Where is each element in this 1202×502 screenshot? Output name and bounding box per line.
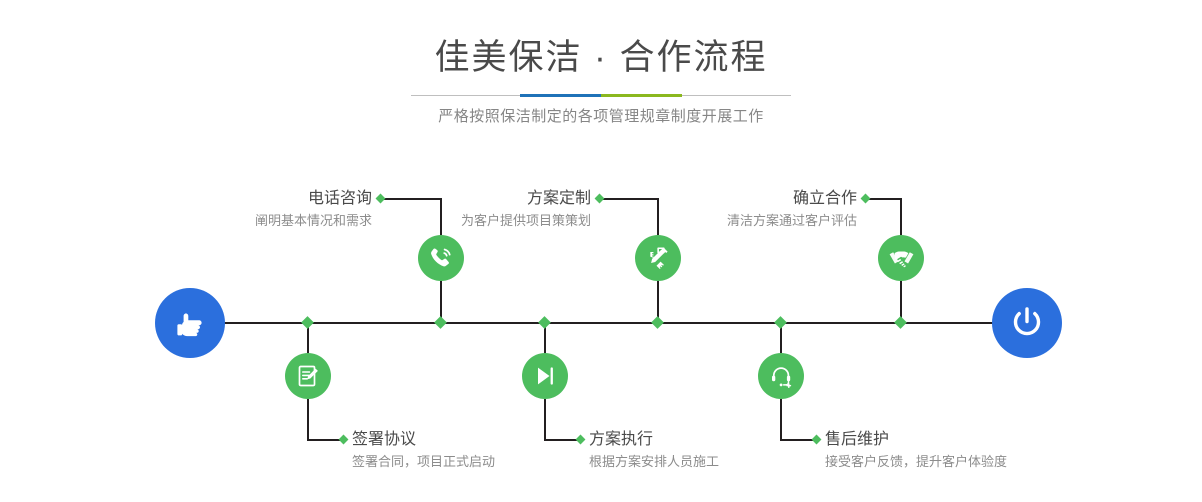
headset-support-icon xyxy=(769,364,794,389)
handshake-icon xyxy=(888,245,915,272)
step-node-phone-consult[interactable] xyxy=(418,235,464,281)
step-desc-after-sales: 接受客户反馈，提升客户体验度 xyxy=(825,451,1007,473)
step-label-establish-cooperation: 确立合作 清洁方案通过客户评估 xyxy=(727,188,857,232)
axis-marker-establish-cooperation xyxy=(894,316,907,329)
step-desc-establish-cooperation: 清洁方案通过客户评估 xyxy=(727,210,857,232)
step-desc-plan-custom: 为客户提供项目策策划 xyxy=(461,210,591,232)
step-title-after-sales: 售后维护 xyxy=(825,429,1007,451)
label-marker-establish-cooperation xyxy=(861,194,871,204)
connector-stem-up-establish-cooperation xyxy=(900,198,902,235)
connector-stem-down-after-sales xyxy=(780,399,782,440)
step-desc-sign-agreement: 签署合同，项目正式启动 xyxy=(352,451,495,473)
label-marker-after-sales xyxy=(812,435,822,445)
axis-marker-plan-custom xyxy=(651,316,664,329)
step-desc-phone-consult: 阐明基本情况和需求 xyxy=(255,210,372,232)
flow-timeline-axis xyxy=(160,322,1042,324)
connector-arm-plan-custom xyxy=(600,198,659,200)
page-subtitle: 严格按照保洁制定的各项管理规章制度开展工作 xyxy=(0,105,1202,129)
connector-stem-down-sign-agreement xyxy=(307,399,309,440)
connector-stem-down-plan-execution xyxy=(544,399,546,440)
step-label-plan-execution: 方案执行 根据方案安排人员施工 xyxy=(589,429,719,473)
pencil-ruler-icon xyxy=(645,245,671,271)
process-flow-diagram: 电话咨询 阐明基本情况和需求 方案定制 为客户提供项目策策划 xyxy=(0,150,1202,502)
step-label-plan-custom: 方案定制 为客户提供项目策策划 xyxy=(461,188,591,232)
step-title-phone-consult: 电话咨询 xyxy=(255,188,372,210)
label-marker-plan-execution xyxy=(576,435,586,445)
connector-arm-phone-consult xyxy=(381,198,442,200)
divider-segment-green xyxy=(601,94,682,97)
step-node-plan-execution[interactable] xyxy=(522,353,568,399)
axis-marker-sign-agreement xyxy=(301,316,314,329)
connector-stem-up-phone-consult xyxy=(440,198,442,235)
label-marker-phone-consult xyxy=(376,194,386,204)
step-title-sign-agreement: 签署协议 xyxy=(352,429,495,451)
axis-marker-plan-execution xyxy=(538,316,551,329)
step-node-after-sales[interactable] xyxy=(758,353,804,399)
axis-marker-after-sales xyxy=(774,316,787,329)
step-title-plan-execution: 方案执行 xyxy=(589,429,719,451)
step-desc-plan-execution: 根据方案安排人员施工 xyxy=(589,451,719,473)
page-header: 佳美保洁 · 合作流程 严格按照保洁制定的各项管理规章制度开展工作 xyxy=(0,0,1202,150)
step-label-sign-agreement: 签署协议 签署合同，项目正式启动 xyxy=(352,429,495,473)
pointing-hand-icon xyxy=(170,303,210,343)
title-divider xyxy=(411,94,791,97)
divider-segment-gray-left xyxy=(411,95,520,96)
power-icon xyxy=(1006,302,1048,344)
label-marker-plan-custom xyxy=(595,194,605,204)
divider-segment-blue xyxy=(520,94,601,97)
step-label-after-sales: 售后维护 接受客户反馈，提升客户体验度 xyxy=(825,429,1007,473)
document-sign-icon xyxy=(296,364,321,389)
step-title-plan-custom: 方案定制 xyxy=(461,188,591,210)
step-node-plan-custom[interactable] xyxy=(635,235,681,281)
step-label-phone-consult: 电话咨询 阐明基本情况和需求 xyxy=(255,188,372,232)
play-execute-icon xyxy=(533,364,557,388)
divider-segment-gray-right xyxy=(682,95,791,96)
axis-marker-phone-consult xyxy=(434,316,447,329)
label-marker-sign-agreement xyxy=(339,435,349,445)
step-title-establish-cooperation: 确立合作 xyxy=(727,188,857,210)
connector-arm-establish-cooperation xyxy=(866,198,902,200)
phone-ring-icon xyxy=(428,245,454,271)
step-node-sign-agreement[interactable] xyxy=(285,353,331,399)
page-title: 佳美保洁 · 合作流程 xyxy=(0,35,1202,81)
flow-start-node[interactable] xyxy=(155,288,225,358)
flow-end-node[interactable] xyxy=(992,288,1062,358)
step-node-establish-cooperation[interactable] xyxy=(878,235,924,281)
connector-stem-up-plan-custom xyxy=(657,198,659,235)
